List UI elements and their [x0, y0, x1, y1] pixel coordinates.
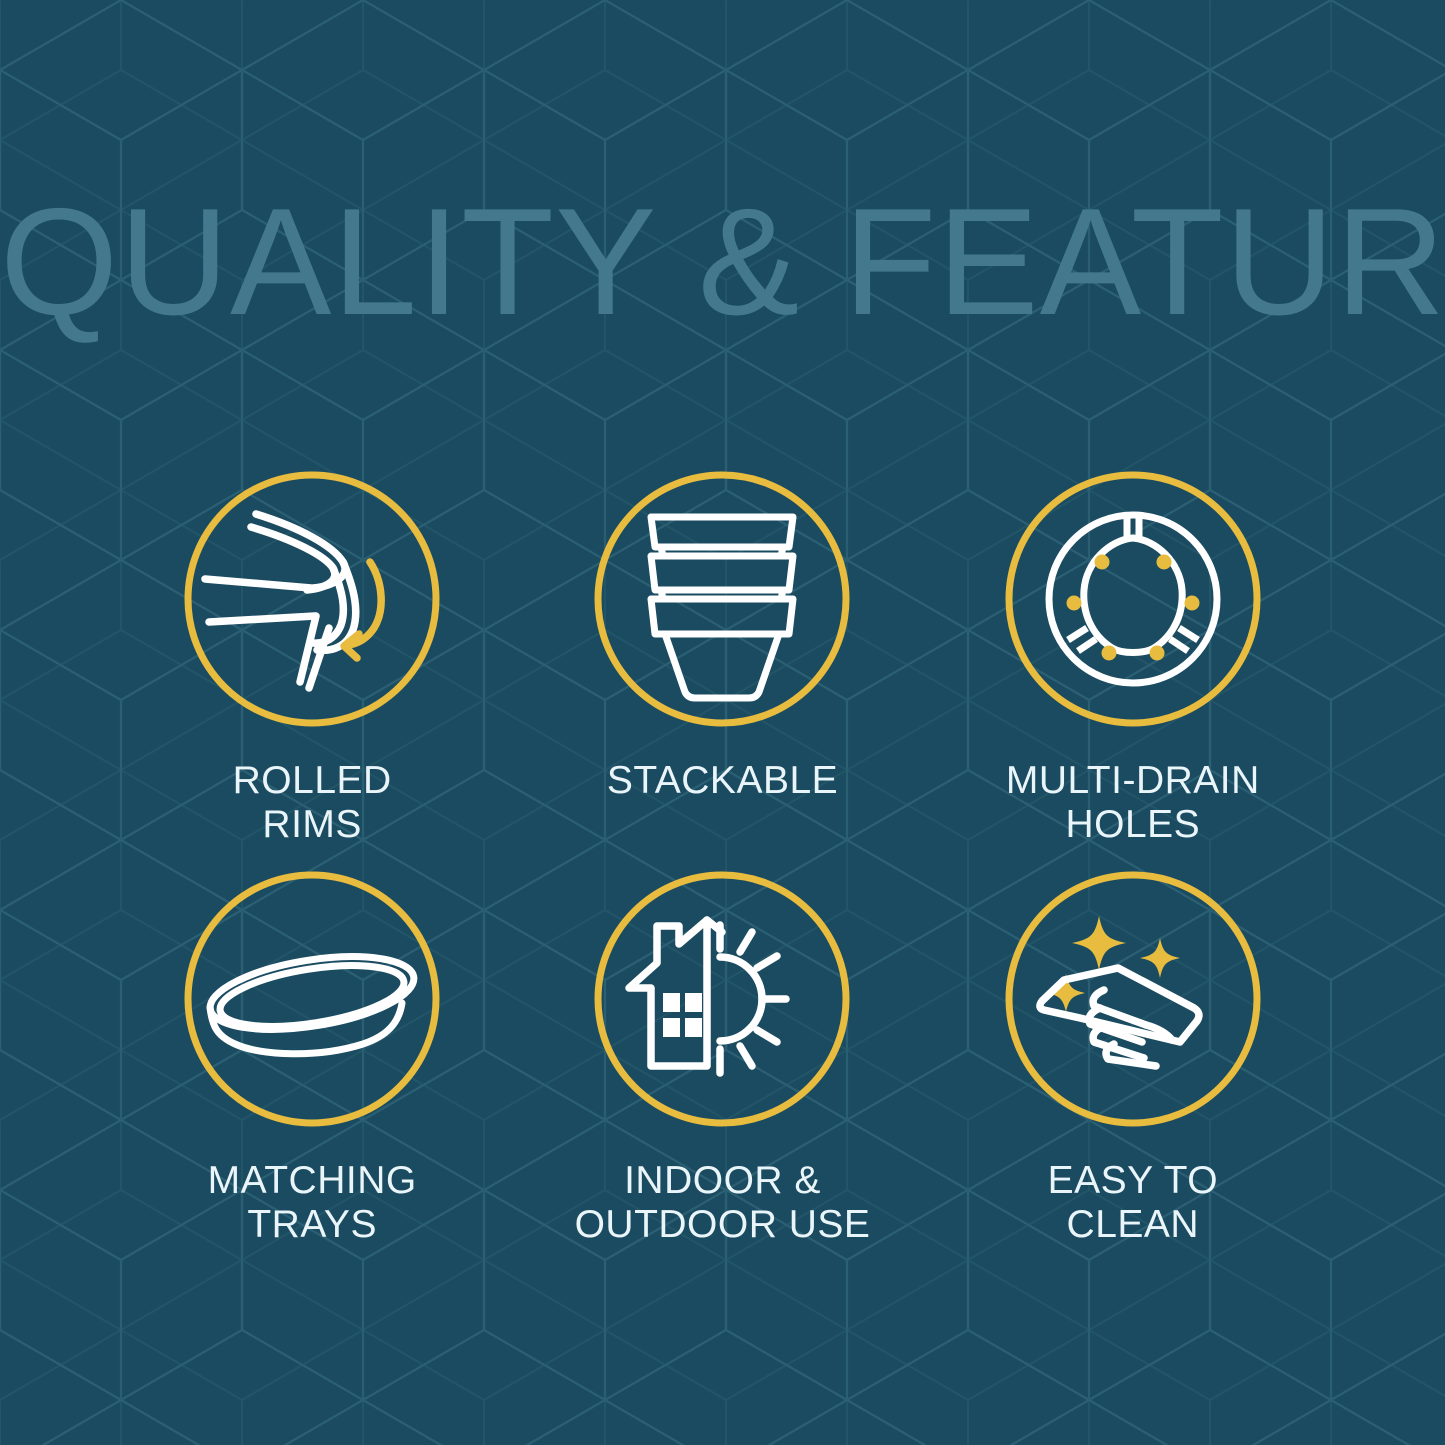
stacked-pots-icon	[593, 470, 851, 728]
house-and-sun-icon	[593, 870, 851, 1128]
feature-item-easy-to-clean[interactable]: EASY TO CLEAN	[928, 870, 1338, 1270]
oval-tray-icon	[183, 870, 441, 1128]
feature-item-rolled-rims[interactable]: ROLLED RIMS	[107, 470, 517, 870]
feature-item-indoor-outdoor-use[interactable]: INDOOR & OUTDOOR USE	[517, 870, 927, 1270]
hand-wiping-sparkle-icon	[1004, 870, 1262, 1128]
feature-label: ROLLED RIMS	[233, 759, 392, 846]
rolled-rim-icon	[183, 470, 441, 728]
feature-label: MATCHING TRAYS	[208, 1159, 417, 1246]
feature-item-matching-trays[interactable]: MATCHING TRAYS	[107, 870, 517, 1270]
page-title: QUALITY & FEATURES	[0, 186, 1445, 338]
feature-label: STACKABLE	[607, 759, 838, 803]
feature-grid: ROLLED RIMS	[107, 470, 1338, 1270]
infographic-canvas: QUALITY & FEATURES	[0, 0, 1445, 1445]
feature-label: MULTI-DRAIN HOLES	[1006, 759, 1260, 846]
drain-holes-icon	[1004, 470, 1262, 728]
feature-item-multi-drain-holes[interactable]: MULTI-DRAIN HOLES	[928, 470, 1338, 870]
feature-item-stackable[interactable]: STACKABLE	[517, 470, 927, 870]
feature-label: EASY TO CLEAN	[1048, 1159, 1218, 1246]
feature-label: INDOOR & OUTDOOR USE	[575, 1159, 871, 1246]
